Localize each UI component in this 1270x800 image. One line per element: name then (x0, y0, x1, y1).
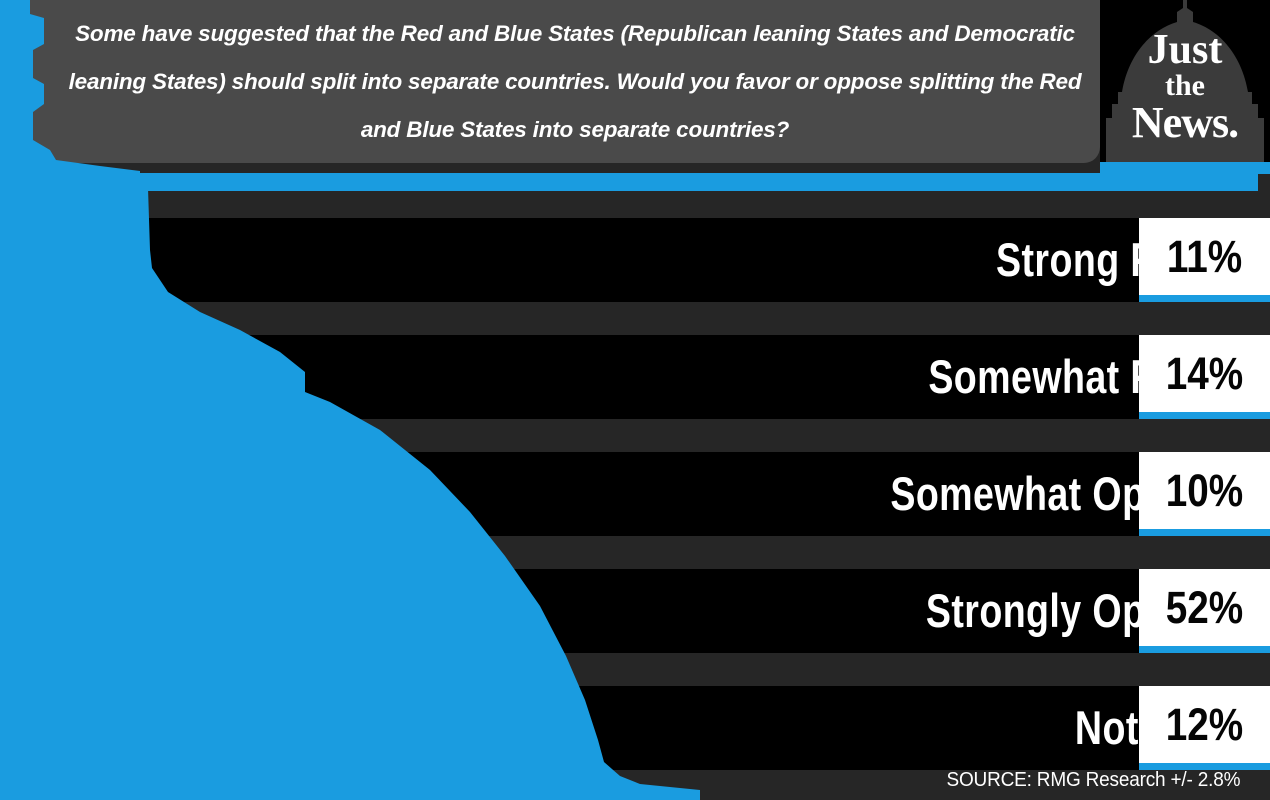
bar-value-label: 11% (1148, 218, 1261, 295)
bar-value-label: 10% (1148, 452, 1261, 529)
bar-category-label: Strong Favor (390, 218, 1270, 302)
bar-category-label: Not Sure (390, 686, 1270, 770)
chart-row: Not Sure 12% (0, 686, 1270, 770)
poll-question-text: Some have suggested that the Red and Blu… (60, 16, 1090, 148)
accent-strip (0, 173, 1258, 191)
bar-value-label: 52% (1148, 569, 1261, 646)
chart-panel: Strong Favor 11% Somewhat Favor 14% Some… (0, 191, 1270, 800)
chart-row: Somewhat Favor 14% (0, 335, 1270, 419)
brand-logo-text: Just the News. (1100, 0, 1270, 174)
chart-row: Strongly Oppose 52% (0, 569, 1270, 653)
bar-category-label: Somewhat Favor (390, 335, 1270, 419)
logo-line-the: the (1165, 71, 1205, 100)
chart-row: Somewhat Oppose 10% (0, 452, 1270, 536)
value-box: 12% (1139, 686, 1270, 770)
bar-value-label: 14% (1148, 335, 1261, 412)
logo-line-news: News. (1132, 101, 1238, 144)
value-box: 52% (1139, 569, 1270, 653)
source-attribution: SOURCE: RMG Research +/- 2.8% (946, 769, 1240, 792)
chart-row: Strong Favor 11% (0, 218, 1270, 302)
bar-value-label: 12% (1148, 686, 1261, 763)
value-box: 11% (1139, 218, 1270, 302)
value-box: 10% (1139, 452, 1270, 536)
bar-category-label: Strongly Oppose (390, 569, 1270, 653)
logo-line-just: Just (1148, 30, 1223, 71)
infographic-canvas: Some have suggested that the Red and Blu… (0, 0, 1270, 800)
bar-category-label: Somewhat Oppose (390, 452, 1270, 536)
brand-logo[interactable]: Just the News. (1100, 0, 1270, 174)
value-box: 14% (1139, 335, 1270, 419)
